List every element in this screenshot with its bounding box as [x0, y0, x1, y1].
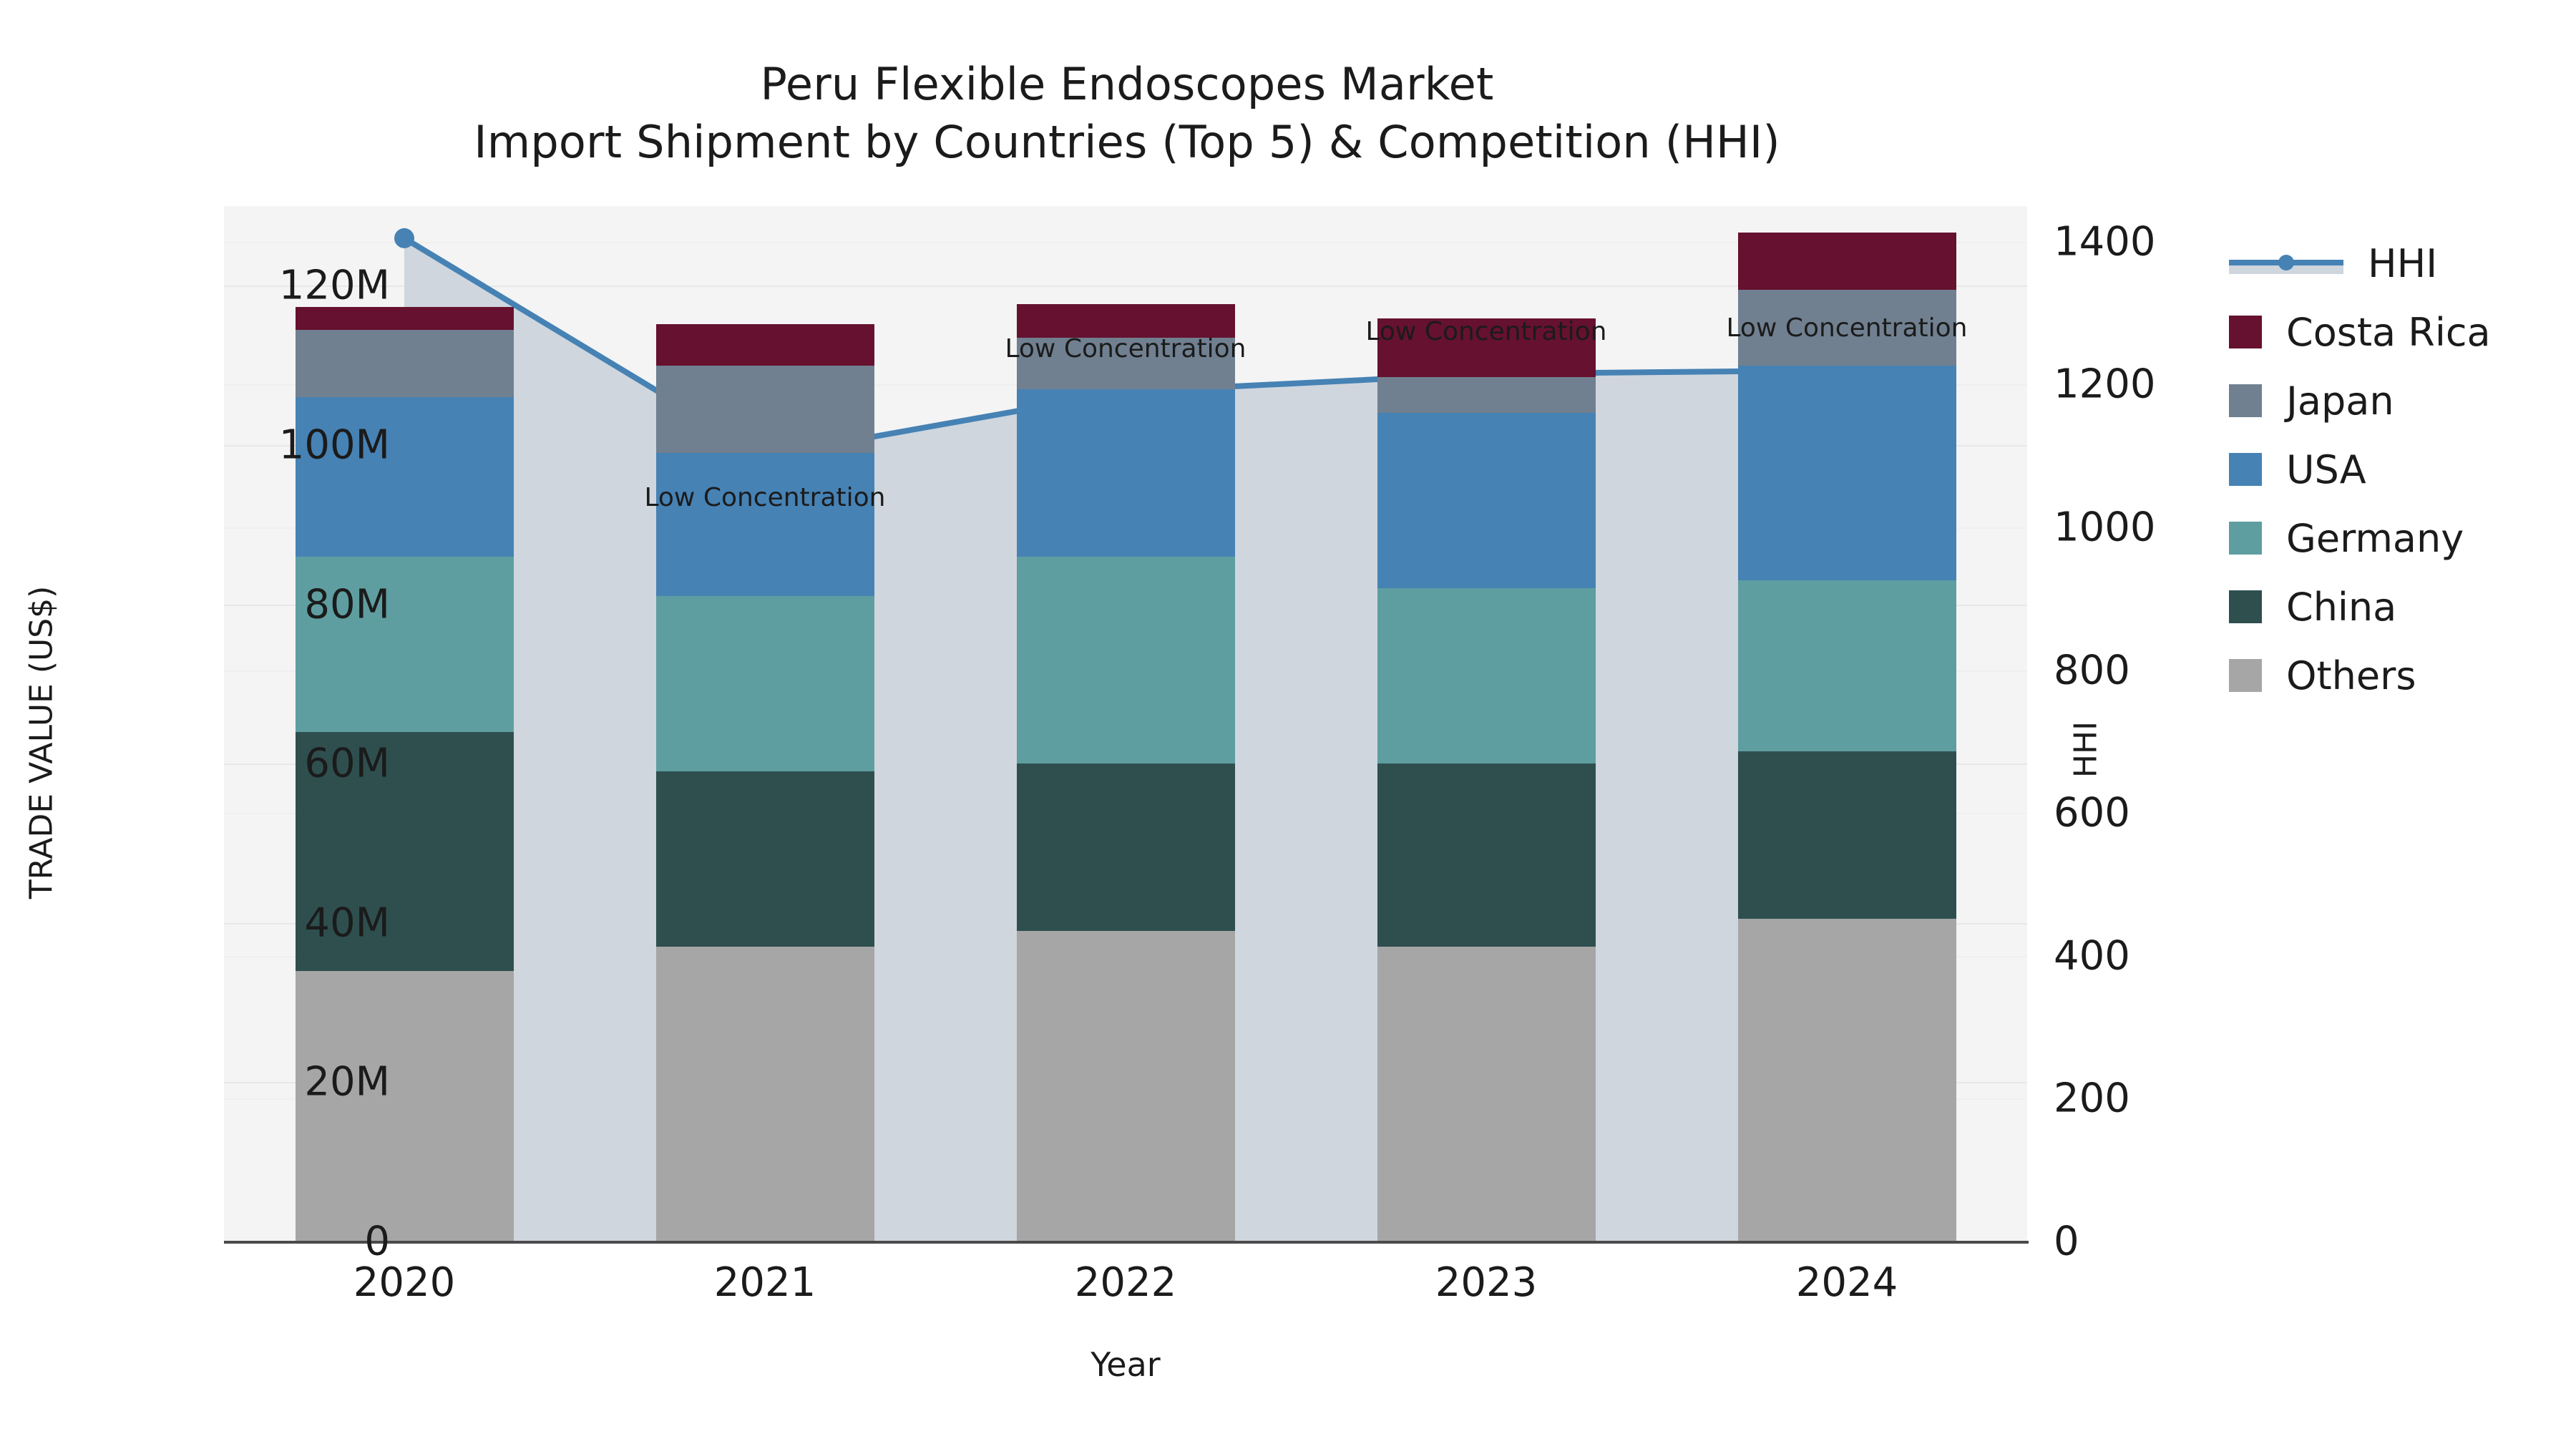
legend-item-others[interactable]: Others [2229, 641, 2565, 710]
y-tick-right-1200: 1200 [2054, 361, 2156, 408]
bar-segment-others-2022[interactable] [1017, 931, 1235, 1241]
bar-segment-costa-rica-2021[interactable] [656, 324, 874, 366]
legend-item-germany[interactable]: Germany [2229, 504, 2565, 572]
annotation-low-concentration-2021: Low Concentration [586, 483, 944, 512]
y-tick-left-120M: 120M [279, 263, 390, 309]
y-axis-left-label: TRADE VALUE (US$) [24, 421, 60, 1065]
legend-line-key-icon [2229, 247, 2343, 280]
y-tick-right-400: 400 [2054, 932, 2130, 979]
legend: HHICosta RicaJapanUSAGermanyChinaOthers [2229, 229, 2565, 710]
y-tick-left-20M: 20M [304, 1059, 390, 1106]
bar-group-2024[interactable] [1738, 206, 1956, 1241]
bar-segment-japan-2020[interactable] [296, 330, 514, 398]
x-axis-label: Year [224, 1345, 2027, 1384]
bar-segment-usa-2021[interactable] [656, 453, 874, 596]
chart-title-block: Peru Flexible Endoscopes Market Import S… [0, 56, 2254, 171]
x-tick-2021: 2021 [714, 1259, 816, 1306]
bar-segment-germany-2023[interactable] [1377, 588, 1596, 763]
bar-segment-others-2020[interactable] [296, 971, 514, 1241]
legend-label: HHI [2368, 241, 2437, 286]
bar-group-2023[interactable] [1377, 206, 1596, 1241]
legend-swatch-icon [2229, 453, 2262, 486]
legend-swatch-icon [2229, 316, 2262, 348]
legend-swatch-icon [2229, 659, 2262, 692]
legend-swatch-icon [2229, 590, 2262, 623]
legend-item-usa[interactable]: USA [2229, 435, 2565, 504]
annotation-low-concentration-2024: Low Concentration [1668, 313, 2026, 343]
bar-segment-japan-2023[interactable] [1377, 377, 1596, 413]
legend-label: Japan [2286, 379, 2394, 424]
bar-segment-germany-2021[interactable] [656, 596, 874, 771]
plot-area: Low ConcentrationLow ConcentrationLow Co… [224, 206, 2027, 1241]
bar-segment-china-2022[interactable] [1017, 763, 1235, 931]
x-tick-2020: 2020 [353, 1259, 456, 1306]
bar-segment-others-2024[interactable] [1738, 919, 1956, 1241]
x-tick-2024: 2024 [1796, 1259, 1898, 1306]
chart-title: Peru Flexible Endoscopes Market [0, 56, 2254, 114]
legend-label: Others [2286, 653, 2416, 698]
legend-item-costa-rica[interactable]: Costa Rica [2229, 298, 2565, 366]
legend-label: Costa Rica [2286, 310, 2491, 355]
y-tick-left-100M: 100M [279, 421, 390, 468]
y-tick-left-40M: 40M [304, 899, 390, 946]
chart-subtitle: Import Shipment by Countries (Top 5) & C… [0, 114, 2254, 172]
legend-swatch-icon [2229, 384, 2262, 417]
y-tick-right-0: 0 [2054, 1219, 2079, 1265]
y-tick-left-60M: 60M [304, 741, 390, 787]
legend-item-japan[interactable]: Japan [2229, 366, 2565, 435]
bar-segment-others-2023[interactable] [1377, 947, 1596, 1241]
legend-swatch-icon [2229, 522, 2262, 555]
bar-segment-costa-rica-2022[interactable] [1017, 304, 1235, 338]
bar-segment-china-2021[interactable] [656, 771, 874, 947]
legend-label: USA [2286, 447, 2366, 492]
bar-segment-germany-2022[interactable] [1017, 557, 1235, 763]
y-tick-right-200: 200 [2054, 1075, 2130, 1122]
x-tick-2023: 2023 [1435, 1259, 1538, 1306]
y-tick-left-80M: 80M [304, 581, 390, 628]
plot-inner: Low ConcentrationLow ConcentrationLow Co… [224, 206, 2027, 1241]
bar-segment-usa-2022[interactable] [1017, 389, 1235, 557]
bar-segment-costa-rica-2020[interactable] [296, 307, 514, 329]
legend-label: China [2286, 585, 2396, 630]
bar-segment-usa-2024[interactable] [1738, 366, 1956, 581]
y-tick-right-1000: 1000 [2054, 504, 2156, 551]
bar-segment-china-2023[interactable] [1377, 763, 1596, 947]
bar-group-2021[interactable] [656, 206, 874, 1241]
x-tick-2022: 2022 [1075, 1259, 1177, 1306]
bar-segment-china-2024[interactable] [1738, 751, 1956, 919]
y-tick-right-1400: 1400 [2054, 218, 2156, 265]
bar-segment-costa-rica-2024[interactable] [1738, 233, 1956, 290]
chart-figure: Peru Flexible Endoscopes Market Import S… [0, 0, 2576, 1449]
y-axis-right-label: HHI [2068, 607, 2104, 893]
bar-segment-japan-2021[interactable] [656, 366, 874, 453]
legend-item-hhi[interactable]: HHI [2229, 229, 2565, 298]
annotation-low-concentration-2023: Low Concentration [1307, 317, 1665, 346]
legend-label: Germany [2286, 516, 2464, 561]
y-tick-left-0: 0 [364, 1219, 390, 1265]
annotation-low-concentration-2022: Low Concentration [947, 334, 1304, 364]
legend-item-china[interactable]: China [2229, 572, 2565, 641]
x-axis-line [224, 1241, 2029, 1244]
bar-segment-others-2021[interactable] [656, 947, 874, 1241]
bar-segment-usa-2023[interactable] [1377, 413, 1596, 588]
bar-segment-germany-2024[interactable] [1738, 580, 1956, 751]
